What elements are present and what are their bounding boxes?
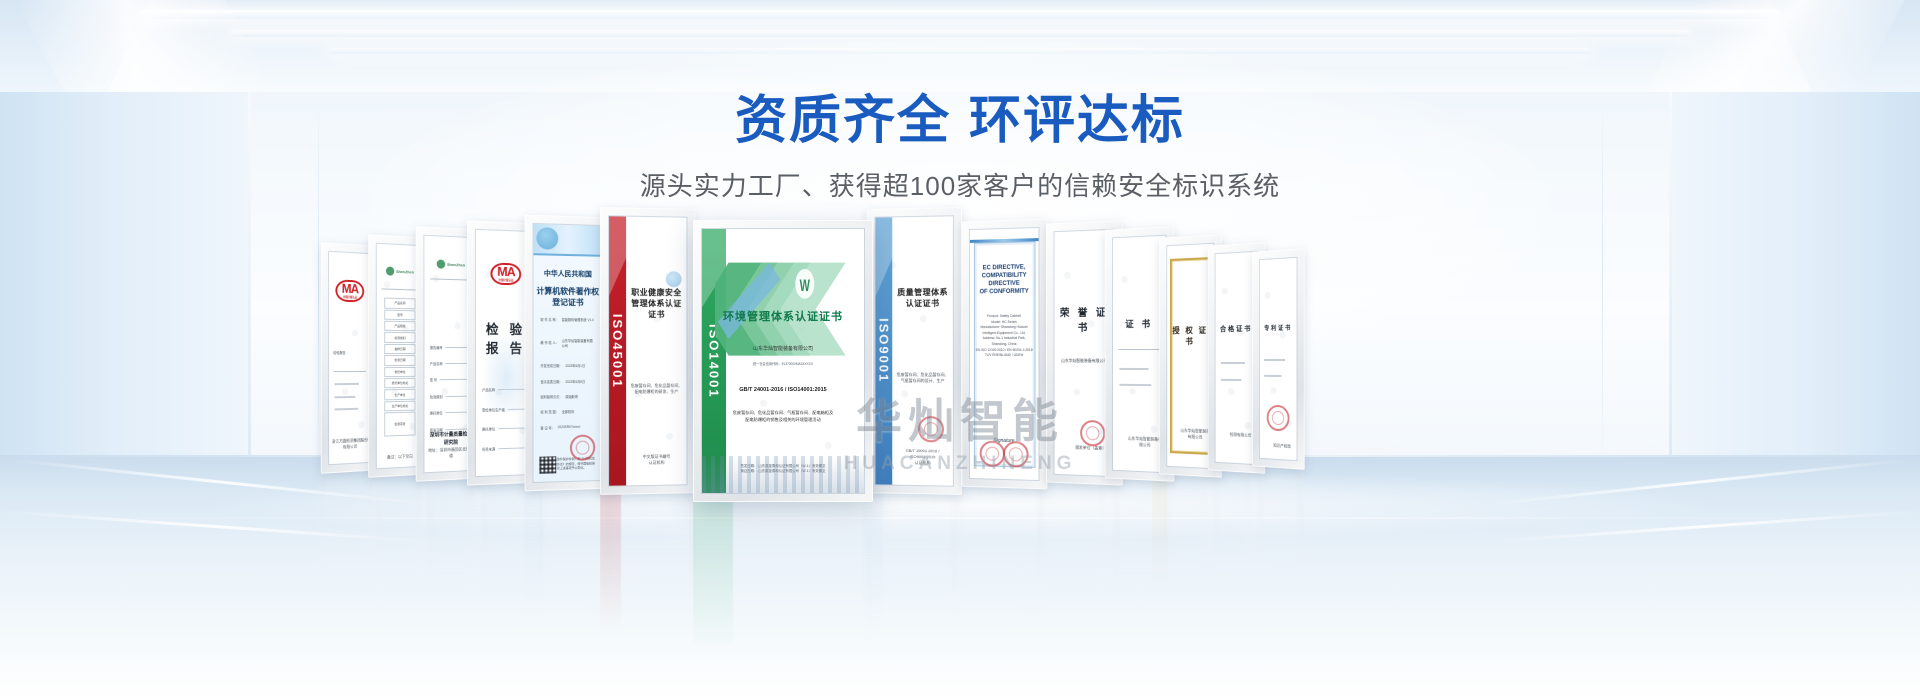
certificate-footer: 浙江方圆检测集团股份有限公司	[332, 438, 368, 452]
ceiling-light-strip	[330, 48, 1590, 54]
headline-block: 资质齐全环评达标 源头实力工厂、获得超100家客户的信赖安全标识系统	[0, 92, 1920, 203]
gold-border-decoration	[1170, 257, 1211, 454]
certificate-frame[interactable]: ISO9001 质量管理体系认证证书 危废暂存间、危化品暂存间、气瓶暂存间的设计…	[867, 207, 962, 495]
emblem-icon	[536, 227, 558, 250]
certificate-title: 授 权 证 书	[1167, 325, 1213, 347]
page-title: 资质齐全环评达标	[0, 92, 1920, 152]
certificate-frame-featured[interactable]: ISO14001 W 环境管理体系认证证书 山东华灿智能装备有限公司 统一社会信…	[693, 220, 873, 502]
ceiling-light-strip	[140, 10, 1780, 19]
headline-part-1: 资质齐全	[735, 92, 951, 150]
certificate-title: 职业健康安全管理体系认证证书	[629, 287, 683, 320]
certificate-title: 专利证书	[1260, 323, 1297, 333]
certificate-paper: MA中国计量认证 检验报告 浙江方圆检测集团股份有限公司	[329, 252, 370, 464]
certificate-paper: ISO9001 质量管理体系认证证书 危废暂存间、危化品暂存间、气瓶暂存间的设计…	[875, 216, 952, 485]
svg-text:W: W	[800, 277, 811, 296]
certificate-scope: 危废暂存间、危化品暂存间、气瓶暂存间、配电箱柜及 配电防爆柜的销售及相关的环境管…	[715, 409, 851, 423]
ma-mark-icon: MA中国计量认证	[335, 280, 364, 303]
ceiling-light-strip	[230, 30, 1690, 37]
certificate-title: 证 书	[1113, 316, 1166, 330]
certificate-company: 山东华灿智能装备有限公司	[712, 345, 855, 352]
ceiling	[0, 0, 1920, 92]
page-subtitle: 源头实力工厂、获得超100家客户的信赖安全标识系统	[0, 166, 1920, 203]
cnas-mark-icon: ShenZhen	[386, 267, 414, 277]
certificate-frame[interactable]: ISO45001 职业健康安全管理体系认证证书 危废暂存间、危化品暂存间、配电防…	[600, 207, 695, 495]
certificate-body: Product: Safety Cabinet Model: HC-Series…	[975, 314, 1033, 359]
certificate-frame[interactable]: EC DIRECTIVE, COMPATIBILITY DIRECTIVE OF…	[961, 219, 1047, 490]
certificate-standard-label: ISO45001	[610, 314, 625, 389]
certificate-paper: 授 权 证 书 山东华灿智能装备有限公司	[1167, 244, 1213, 468]
certificate-paper: 专利证书 知识产权局	[1260, 258, 1297, 460]
certificate-frame[interactable]: 中华人民共和国 计算机软件著作权登记证书 软 件 名 称：智能数码管理系统 V1…	[525, 215, 611, 492]
certificate-standard: GB/T 24001-2016 / ISO14001:2015	[712, 387, 855, 393]
certificate-paper: EC DIRECTIVE, COMPATIBILITY DIRECTIVE OF…	[970, 228, 1038, 480]
certificate-side-band: ISO45001	[609, 216, 626, 485]
cnas-mark-icon: ShenZhen	[437, 260, 466, 270]
certificate-paper: 证 书 山东华灿智能装备有限公司	[1113, 236, 1166, 473]
certificate-frame[interactable]: 专利证书 知识产权局	[1252, 248, 1304, 470]
headline-part-2: 环评达标	[969, 92, 1185, 150]
certificate-paper: ISO45001 职业健康安全管理体系认证证书 危废暂存间、危化品暂存间、配电防…	[609, 216, 686, 485]
banner-stage: 资质齐全环评达标 源头实力工厂、获得超100家客户的信赖安全标识系统	[0, 0, 1920, 700]
certificate-paper: ISO14001 W 环境管理体系认证证书 山东华灿智能装备有限公司 统一社会信…	[702, 229, 864, 493]
ma-mark-icon: MA中国计量认证	[490, 262, 521, 285]
certificate-paper: 中华人民共和国 计算机软件著作权登记证书 软 件 名 称：智能数码管理系统 V1…	[533, 224, 601, 482]
skyline-graphic	[702, 456, 864, 493]
certificate-standard-label: ISO9001	[877, 318, 892, 383]
certificate-title: EC DIRECTIVE, COMPATIBILITY DIRECTIVE OF…	[974, 263, 1034, 296]
certificate-title: 合格证书	[1216, 324, 1257, 335]
emblem-icon	[666, 271, 682, 287]
certificate-side-band: ISO9001	[875, 217, 892, 484]
certificate-title: 环境管理体系认证证书	[712, 308, 855, 324]
certificate-title: 质量管理体系认证证书	[895, 286, 949, 308]
certificate-paper: 合格证书 检测有限公司	[1216, 252, 1257, 464]
